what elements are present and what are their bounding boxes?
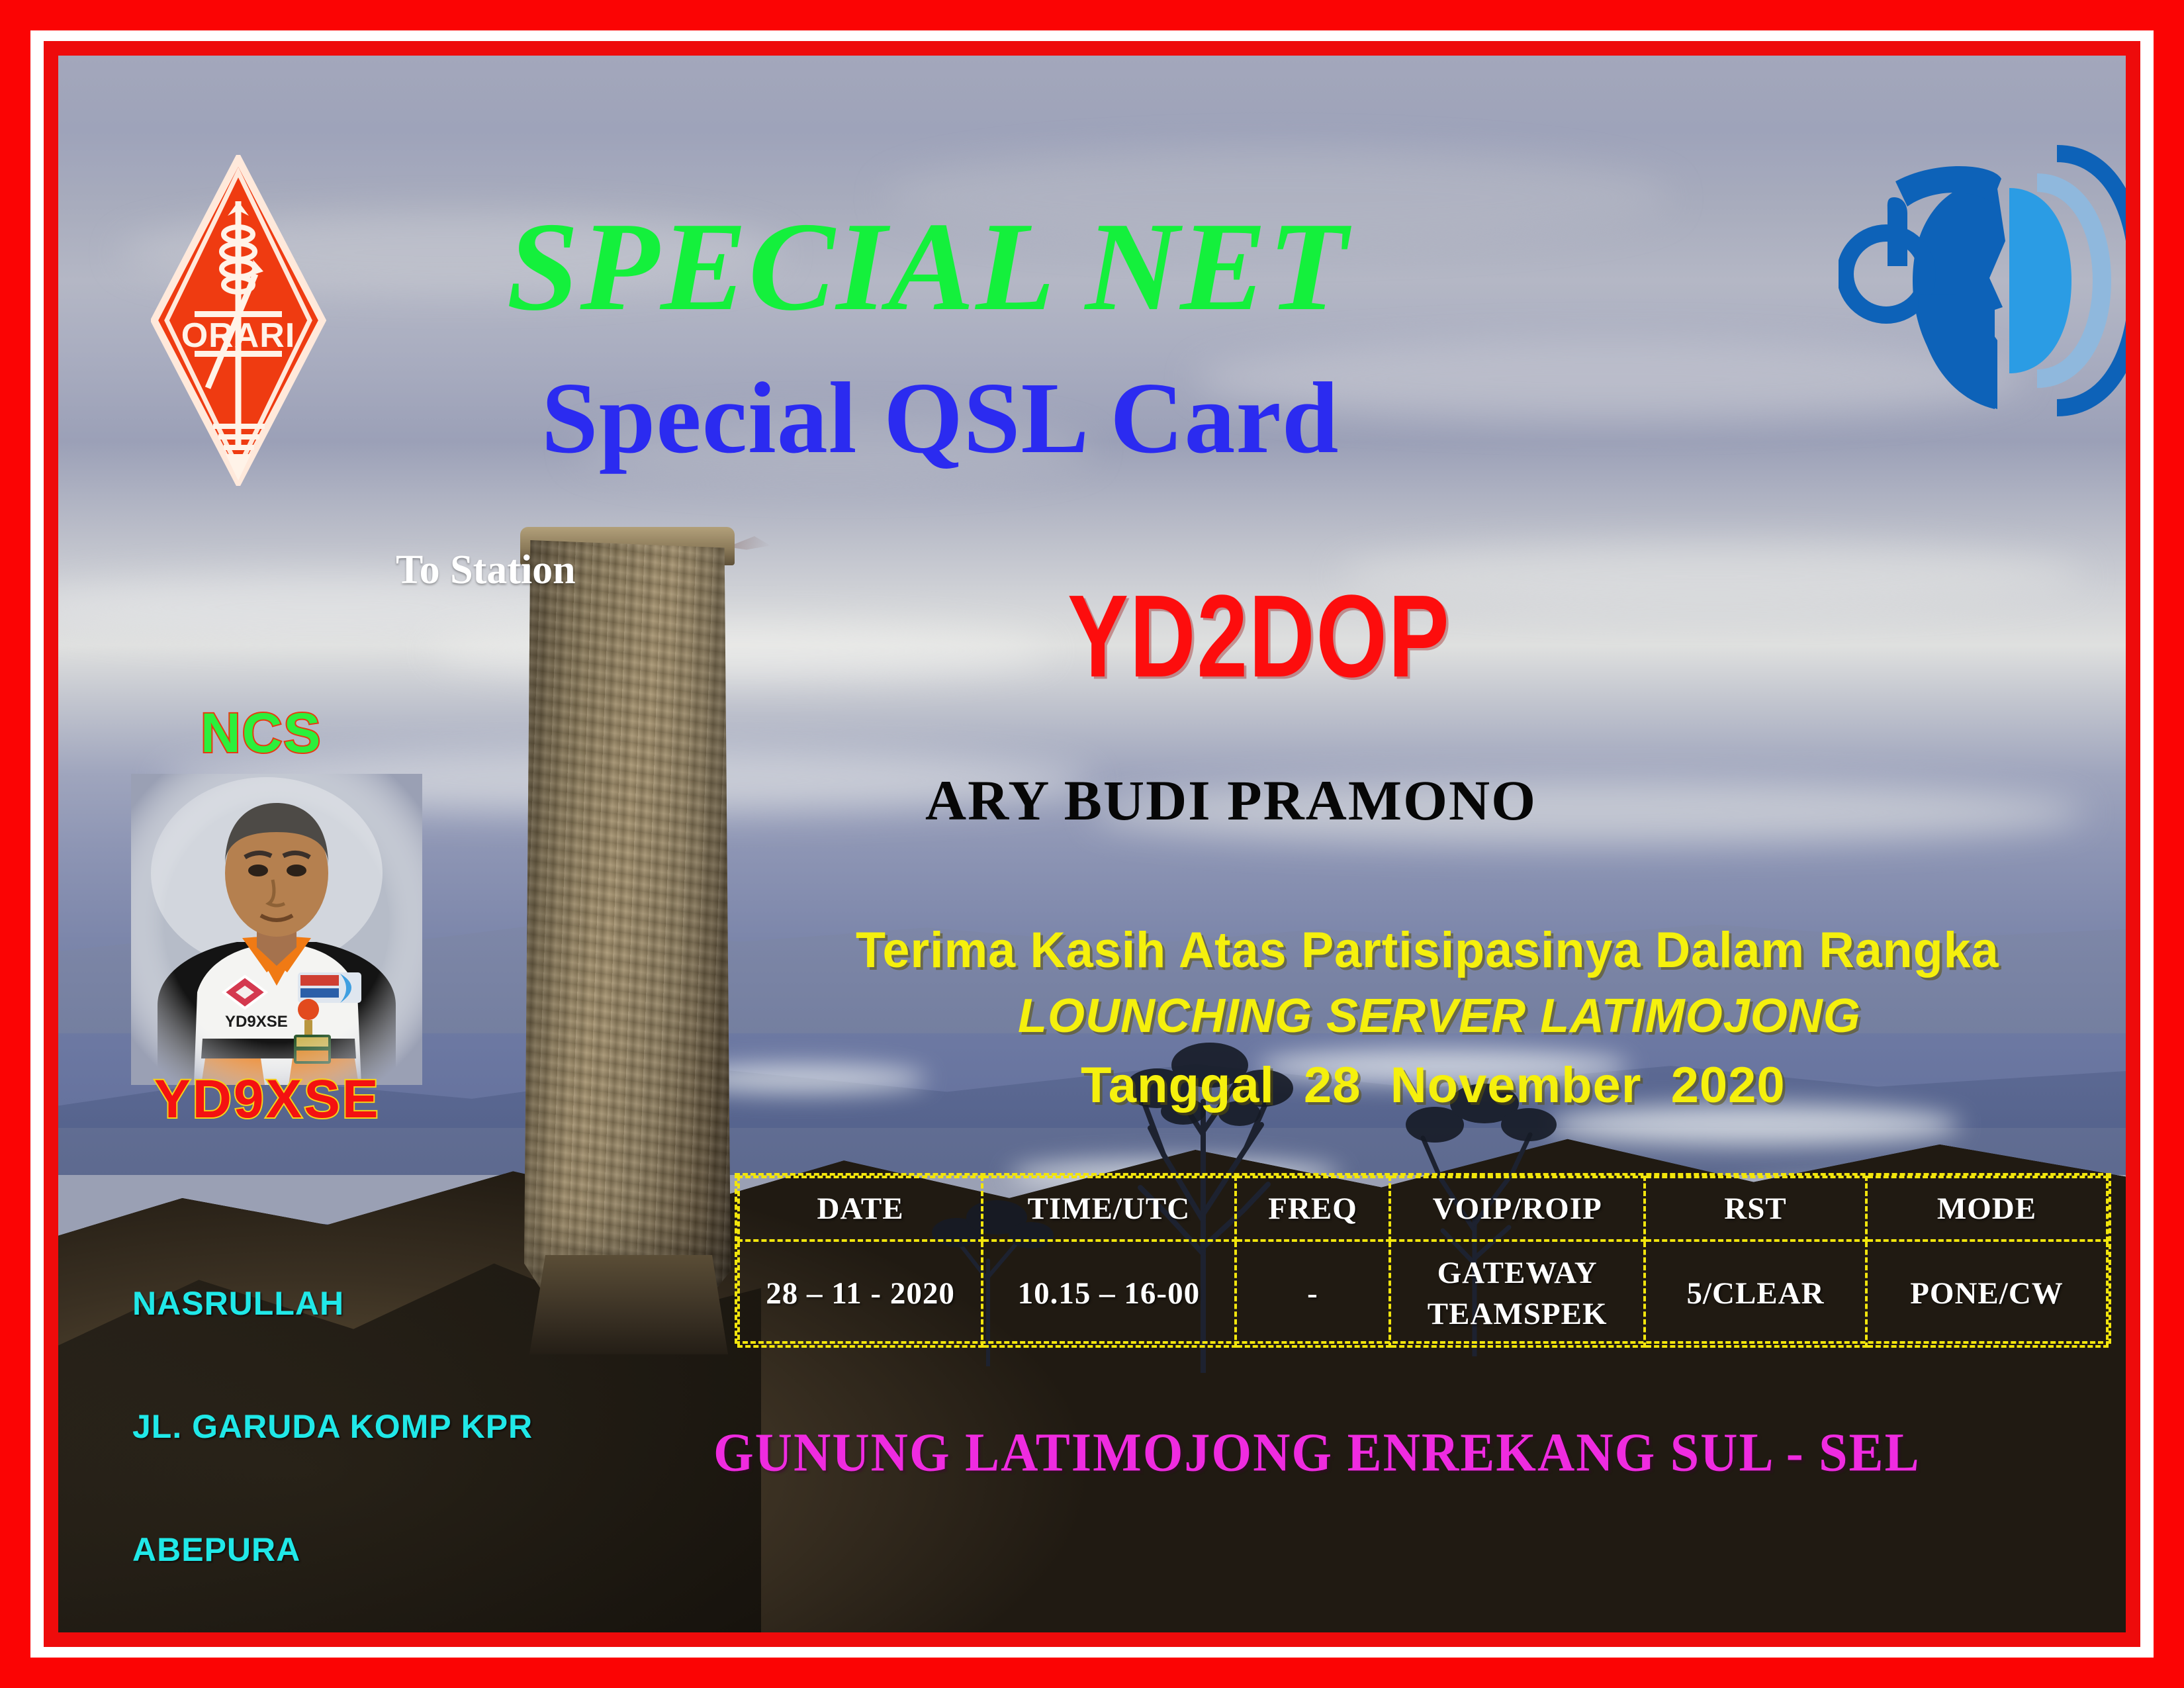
cell-mode: PONE/CW xyxy=(1866,1241,2107,1346)
cell-freq: - xyxy=(1236,1241,1390,1346)
operator-name: ARY BUDI PRAMONO xyxy=(925,767,1537,833)
column-header-voip: VOIP/ROIP xyxy=(1390,1177,1645,1241)
address-line: ABEPURA xyxy=(132,1529,663,1570)
qsl-card: ORARI xyxy=(0,0,2184,1688)
cell-date: 28 – 11 - 2020 xyxy=(739,1241,982,1346)
location-line: GUNUNG LATIMOJONG ENREKANG SUL - SEL xyxy=(713,1421,1921,1483)
column-header-mode: MODE xyxy=(1866,1177,2107,1241)
cell-rst: 5/CLEAR xyxy=(1645,1241,1866,1346)
column-header-rst: RST xyxy=(1645,1177,1866,1241)
page-title: SPECIAL NET xyxy=(507,193,1349,340)
cell-voip: GATEWAY TEAMSPEK xyxy=(1390,1241,1645,1346)
cell-voip-line1: GATEWAY xyxy=(1391,1252,1643,1293)
address-line: NASRULLAH xyxy=(132,1283,663,1324)
cell-voip-line2: TEAMSPEK xyxy=(1391,1293,1643,1335)
qso-details-table: DATE TIME/UTC FREQ VOIP/ROIP RST MODE 28… xyxy=(735,1173,2111,1344)
footer-slogan: "AMATIR RADIO ADALAH PROGRESIVE" xyxy=(138,1635,1119,1647)
column-header-time: TIME/UTC xyxy=(982,1177,1236,1241)
event-name-line: LOUNCHING SERVER LATIMOJONG xyxy=(1018,989,1861,1043)
page-subtitle: Special QSL Card xyxy=(541,360,1339,477)
station-callsign: YD2DOP xyxy=(1068,569,1451,704)
event-date-line: Tanggal 28 November 2020 xyxy=(1081,1056,1786,1114)
ncs-label: NCS xyxy=(201,701,322,765)
column-header-freq: FREQ xyxy=(1236,1177,1390,1241)
column-header-date: DATE xyxy=(739,1177,982,1241)
cell-time: 10.15 – 16-00 xyxy=(982,1241,1236,1346)
address-block: NASRULLAH JL. GARUDA KOMP KPR ABEPURA PE… xyxy=(132,1201,663,1647)
radio-headphone-profile-logo xyxy=(1839,142,2140,420)
inner-red-frame: ORARI xyxy=(44,41,2140,1647)
table-row: 28 – 11 - 2020 10.15 – 16-00 - GATEWAY T… xyxy=(739,1241,2107,1346)
ncs-callsign: YD9XSE xyxy=(154,1068,381,1131)
ncs-operator-photo: YD9XSE xyxy=(131,774,422,1085)
svg-text:ORARI: ORARI xyxy=(181,316,296,355)
thanks-line-1: Terima Kasih Atas Partisipasinya Dalam R… xyxy=(856,921,1999,979)
to-station-label: To Station xyxy=(396,547,576,594)
orari-logo: ORARI xyxy=(151,155,326,486)
footer-website-address: Address : amatir.latimojong.com xyxy=(1336,1635,2026,1647)
address-line: JL. GARUDA KOMP KPR xyxy=(132,1406,663,1447)
table-header-row: DATE TIME/UTC FREQ VOIP/ROIP RST MODE xyxy=(739,1177,2107,1241)
